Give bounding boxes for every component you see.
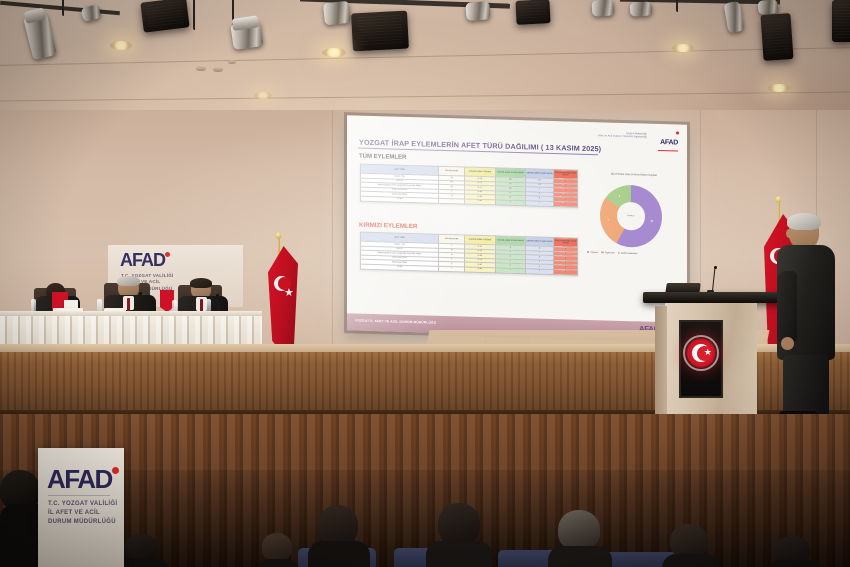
ceiling-speaker xyxy=(760,13,793,61)
ceiling-downlight xyxy=(322,48,346,57)
afad-logo-foreground: AFAD xyxy=(47,464,112,495)
audience-member xyxy=(308,505,370,567)
panel-member-tie xyxy=(127,298,130,311)
presenter-ear xyxy=(786,229,792,238)
audience-member xyxy=(118,534,170,567)
ceiling-downlight xyxy=(672,44,694,52)
stage-spotlight xyxy=(465,1,490,21)
stage-spotlight xyxy=(592,0,615,17)
ceiling-downlight xyxy=(254,92,272,99)
audience-member xyxy=(256,533,300,567)
presenter-person xyxy=(775,215,837,415)
ceiling-cable xyxy=(193,0,195,30)
panel-member-hair xyxy=(117,276,140,286)
afad-logo-stage-banner: AFAD xyxy=(120,250,165,271)
smoke-detector xyxy=(196,66,206,71)
podium-display: ★ xyxy=(679,320,723,398)
ceiling-downlight xyxy=(110,41,132,50)
podium-top-surface xyxy=(643,292,783,303)
ceiling-speaker xyxy=(140,0,189,33)
ceiling-downlight xyxy=(768,84,790,92)
panel-member-hair xyxy=(190,278,212,288)
podium-microphone xyxy=(706,268,718,294)
presenter-hair xyxy=(787,213,821,230)
ceiling-cable xyxy=(676,0,678,12)
turkish-flag-emblem-icon: ★ xyxy=(686,338,716,368)
ceiling-speaker xyxy=(351,11,409,52)
ceiling-speaker xyxy=(832,0,850,42)
conference-hall-photo: İçişleri Bakanlığı Afet ve Acil Durum Yö… xyxy=(0,0,850,567)
stage-spotlight xyxy=(323,1,351,26)
smoke-detector xyxy=(213,67,223,72)
smoke-detector xyxy=(228,60,236,64)
audience-member xyxy=(426,503,492,567)
foreground-banner-afad: AFAD T.C. YOZGAT VALİLİĞİ İL AFET VE ACİ… xyxy=(38,448,124,567)
stage-spotlight xyxy=(630,1,653,16)
ceiling-cable xyxy=(62,0,64,16)
audience-member xyxy=(766,536,822,567)
presenter-legs xyxy=(783,355,829,417)
wall-seam xyxy=(332,110,333,355)
turkish-flag-left: ★ xyxy=(262,232,304,360)
stage-spotlight xyxy=(230,20,263,50)
presenter-hand xyxy=(781,337,794,350)
foreground-banner-subtitle: T.C. YOZGAT VALİLİĞİ İL AFET VE ACİL DUR… xyxy=(48,500,117,527)
speaker-podium: ★ xyxy=(655,292,767,414)
audience-member xyxy=(548,510,612,567)
projection-screen: İçişleri Bakanlığı Afet ve Acil Durum Yö… xyxy=(347,115,687,339)
presenter-arm xyxy=(777,271,797,343)
ceiling-speaker xyxy=(515,0,550,25)
podium-side-panel xyxy=(655,306,667,414)
audience-member xyxy=(662,524,720,567)
ceiling-light-wash xyxy=(0,0,850,120)
stage-spotlight xyxy=(757,0,778,15)
